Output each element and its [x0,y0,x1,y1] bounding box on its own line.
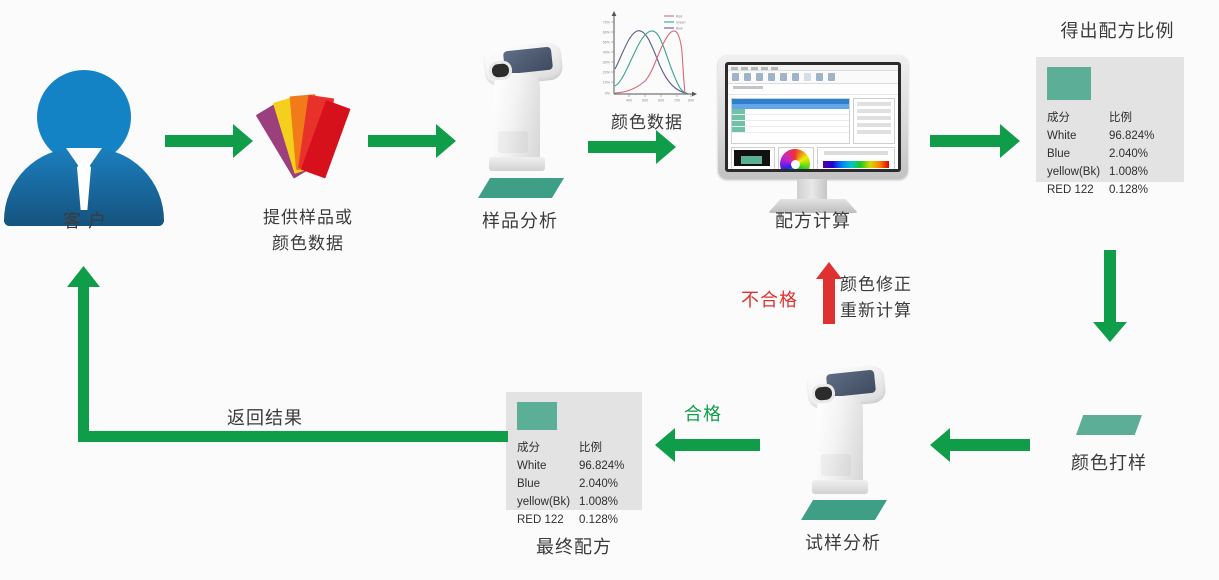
label-customer: 客 户 [0,208,170,234]
formula-cell-ratio: 2.040% [579,475,624,493]
formula-cell-component: Blue [517,475,579,493]
arrow-formula-to-proof [1093,250,1127,342]
monitor-neck [797,179,827,201]
formula-cell-ratio: 1.008% [579,493,624,511]
svg-text:800: 800 [688,99,694,103]
formula-row: RED 122 0.128% [517,511,624,529]
label-trial-analysis: 试样分析 [778,530,908,556]
monitor-bezel [718,55,908,179]
software-spectrum-pane [817,147,895,169]
formula-row: RED 122 0.128% [1047,181,1154,199]
svg-text:400: 400 [626,99,632,103]
svg-text:Red: Red [676,14,682,18]
label-correction: 颜色修正 重新计算 [840,272,950,324]
label-color-cards: 提供样品或 颜色数据 [213,205,403,257]
software-lower-panes [728,147,898,169]
formula-swatch [517,402,557,430]
trial-pad-green [801,500,887,520]
device-grip-icon [494,73,540,165]
label-pass: 合格 [684,400,722,426]
label-formula-calc: 配方计算 [748,208,878,234]
formula-table: 成分 比例 White 96.824% Blue 2.040% yellow(B… [517,439,624,529]
formula-header-row: 成分 比例 [517,439,624,457]
label-sample-analysis: 样品分析 [455,208,585,234]
color-wheel-icon [778,147,814,169]
formula-row: White 96.824% [1047,127,1154,145]
spectral-chart: 70%60% 50%40% 30%20% 10%0% 400500 600700… [592,8,702,108]
formula-row: White 96.824% [517,457,624,475]
monitor-screen [728,65,898,169]
formula-cell-ratio: 96.824% [1109,127,1154,145]
software-side-panel [853,98,895,144]
sample-pad-green [478,178,564,198]
formula-cell-ratio: 1.008% [1109,163,1154,181]
formula-header-ratio: 比例 [1109,109,1154,127]
arrow-proof-to-trial [930,428,1030,462]
software-body [728,95,898,147]
formula-cell-ratio: 96.824% [579,457,624,475]
formula-cell-component: RED 122 [517,511,579,529]
software-preview-pane [731,147,775,169]
svg-text:Blue: Blue [676,26,683,30]
arrow-customer-to-cards [165,124,253,158]
spectral-chart-svg: 70%60% 50%40% 30%20% 10%0% 400500 600700… [592,8,702,108]
formula-row: yellow(Bk) 1.008% [1047,163,1154,181]
label-formula-ratio: 得出配方比例 [1025,18,1210,44]
svg-text:40%: 40% [603,50,611,54]
formula-cell-ratio: 0.128% [579,511,624,529]
formula-cell-component: yellow(Bk) [1047,163,1109,181]
svg-text:500: 500 [642,99,648,103]
svg-text:60%: 60% [603,30,611,34]
svg-text:0%: 0% [605,92,611,96]
formula-swatch [1047,67,1091,100]
software-subtitle-bar [728,86,898,95]
table-row [732,127,849,133]
label-color-proof: 颜色打样 [1044,450,1174,476]
label-fail: 不合格 [741,286,798,312]
svg-text:700: 700 [674,99,680,103]
arrow-data-to-monitor [588,130,676,164]
svg-text:10%: 10% [603,80,611,84]
formula-row: yellow(Bk) 1.008% [517,493,624,511]
label-return-result: 返回结果 [205,405,325,431]
node-color-proof[interactable] [1076,415,1142,435]
software-toolbar [728,71,898,84]
device-foot-icon [489,157,545,171]
formula-header-component: 成分 [517,439,579,457]
svg-text:20%: 20% [603,70,611,74]
formula-row: Blue 2.040% [517,475,624,493]
svg-text:70%: 70% [603,20,611,24]
formula-panel-top[interactable]: 成分 比例 White 96.824% Blue 2.040% yellow(B… [1036,57,1184,182]
node-customer[interactable] [0,30,170,230]
svg-text:50%: 50% [603,40,611,44]
node-trial-analysis[interactable] [793,368,903,518]
svg-text:Green: Green [676,20,686,24]
formula-cell-component: Blue [1047,145,1109,163]
formula-cell-component: White [1047,127,1109,145]
node-color-cards[interactable] [258,92,358,182]
arrow-cards-to-device [368,124,456,158]
formula-table: 成分 比例 White 96.824% Blue 2.040% yellow(B… [1047,109,1154,199]
formula-header-ratio: 比例 [579,439,624,457]
svg-text:30%: 30% [603,60,611,64]
device-grip-icon [817,396,863,488]
formula-cell-component: White [517,457,579,475]
formula-panel-final[interactable]: 成分 比例 White 96.824% Blue 2.040% yellow(B… [506,392,642,510]
label-final-formula: 最终配方 [509,534,639,560]
device-foot-icon [812,480,868,494]
arrow-recalculate [816,262,842,324]
flow-diagram: 客 户 提供样品或 颜色数据 样品分析 [0,0,1219,580]
software-data-table [731,98,850,144]
formula-cell-component: RED 122 [1047,181,1109,199]
formula-row: Blue 2.040% [1047,145,1154,163]
node-sample-analysis[interactable] [470,45,580,195]
monitor-frame [725,62,901,172]
chart-legend: Red Green Blue [664,14,686,30]
spectrum-bar [823,161,889,168]
svg-text:600: 600 [658,99,664,103]
arrow-monitor-to-formula [930,124,1020,158]
node-formula-calc[interactable] [718,55,908,215]
formula-cell-ratio: 0.128% [1109,181,1154,199]
formula-cell-component: yellow(Bk) [517,493,579,511]
formula-cell-ratio: 2.040% [1109,145,1154,163]
arrow-pass-to-final [655,428,760,462]
formula-header-component: 成分 [1047,109,1109,127]
formula-header-row: 成分 比例 [1047,109,1154,127]
